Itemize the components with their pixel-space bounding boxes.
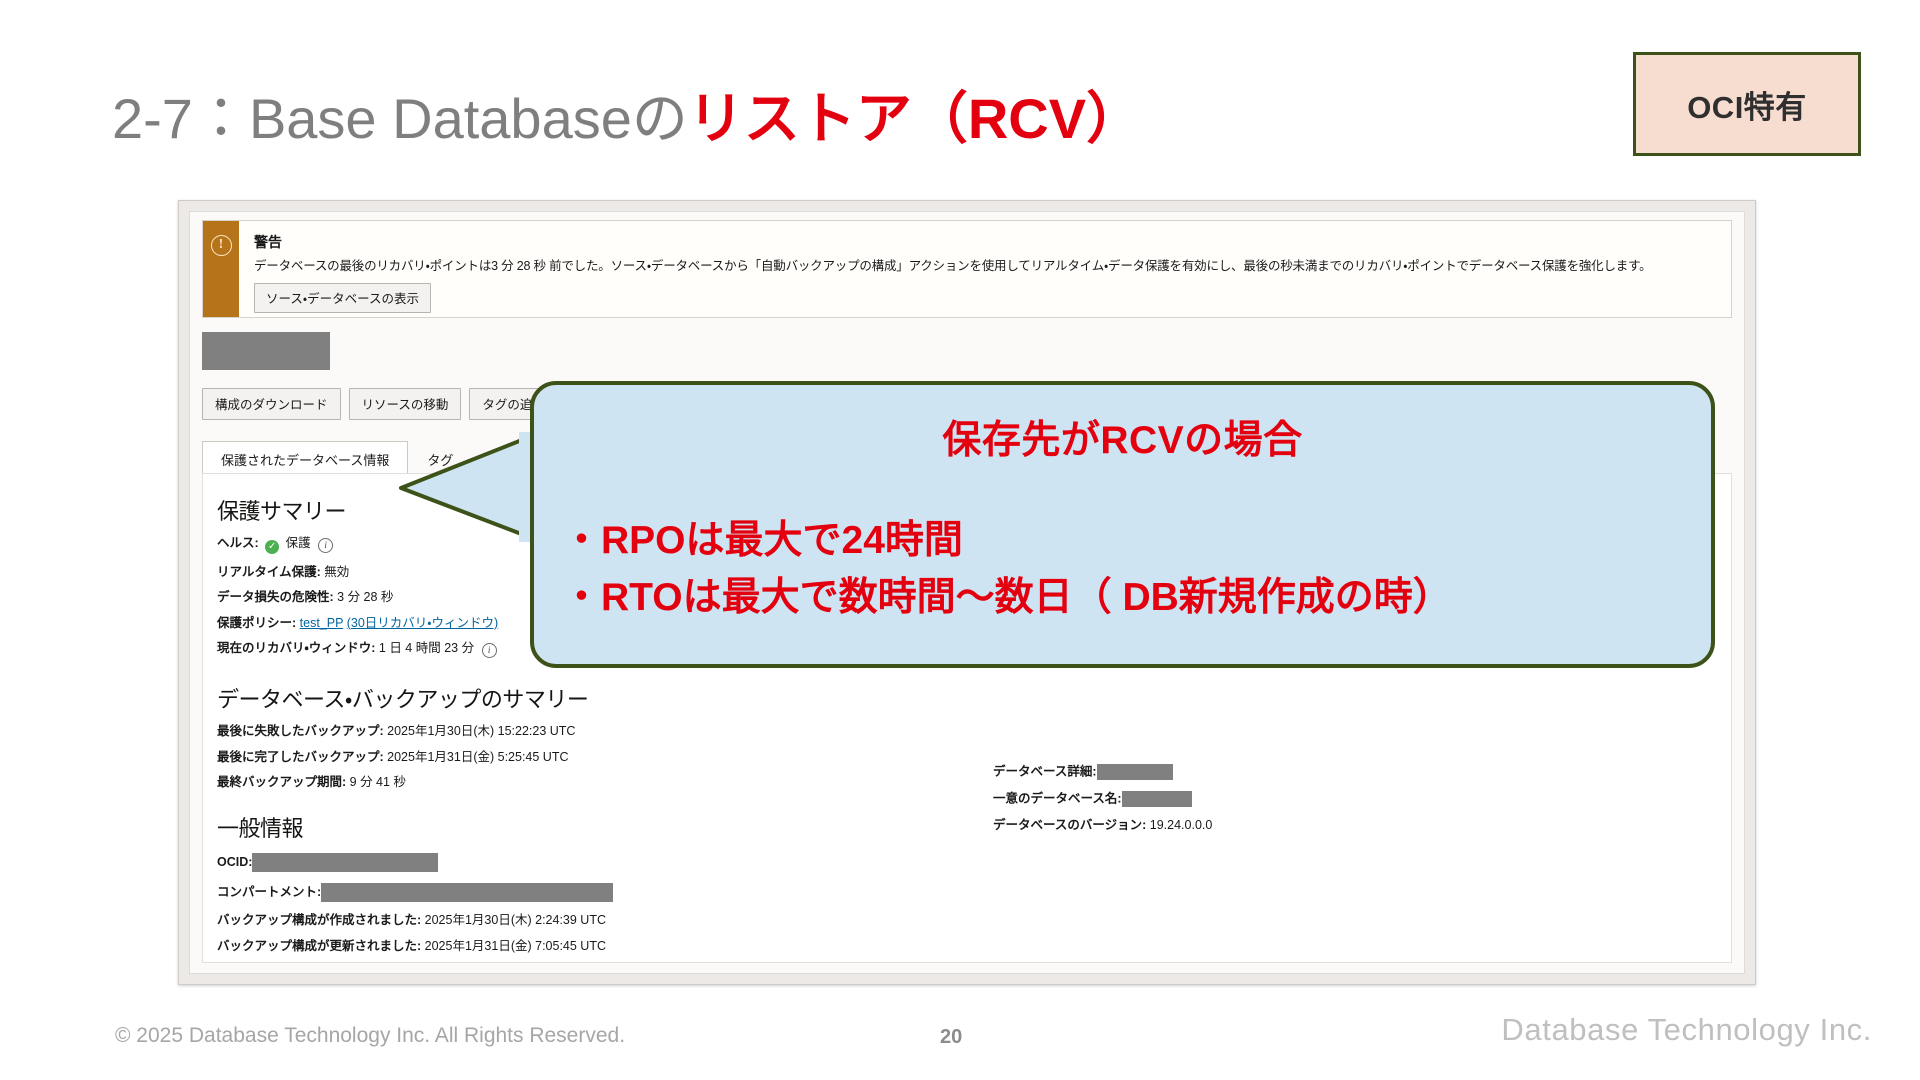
- last-failed-backup-label: 最後に失敗したバックアップ:: [217, 724, 384, 738]
- last-failed-backup-row: 最後に失敗したバックアップ: 2025年1月30日(木) 15:22:23 UT…: [217, 724, 957, 738]
- last-backup-duration-label: 最終バックアップ期間:: [217, 775, 346, 789]
- protection-policy-window[interactable]: (30日リカバリ・ウィンドウ): [347, 616, 498, 630]
- backup-config-created-label: バックアップ構成が作成されました:: [217, 913, 421, 927]
- compartment-label: コンパートメント:: [217, 885, 321, 899]
- info-icon[interactable]: i: [482, 643, 497, 658]
- download-configuration-button[interactable]: 構成のダウンロード: [202, 388, 341, 420]
- ocid-value-redaction: [252, 853, 438, 872]
- last-completed-backup-row: 最後に完了したバックアップ: 2025年1月31日(金) 5:25:45 UTC: [217, 750, 957, 764]
- health-value: 保護: [286, 536, 311, 550]
- database-version-value: 19.24.0.0.0: [1150, 818, 1213, 832]
- detail-right-column: データベース詳細: 一意のデータベース名: データベースのバージョン: 19.2…: [993, 764, 1553, 843]
- callout-title: 保存先がRCVの場合: [534, 409, 1711, 465]
- data-loss-exposure-value: 3 分 28 秒: [337, 590, 393, 604]
- last-failed-backup-value: 2025年1月30日(木) 15:22:23 UTC: [387, 724, 575, 738]
- general-information-heading: 一般情報: [217, 811, 957, 843]
- page-title-prefix: 2-7：Base Databaseの: [112, 87, 688, 150]
- compartment-value-redaction: [321, 883, 613, 902]
- backup-config-updated-value: 2025年1月31日(金) 7:05:45 UTC: [425, 939, 606, 953]
- footer-page-number: 20: [940, 1026, 962, 1049]
- backup-summary-heading: データベース・バックアップのサマリー: [217, 682, 957, 714]
- protection-policy-link[interactable]: test_PP: [300, 616, 344, 630]
- database-detail-row: データベース詳細:: [993, 764, 1553, 780]
- resource-action-toolbar: 構成のダウンロード リソースの移動 タグの追加: [202, 388, 558, 420]
- unique-database-name-row: 一意のデータベース名:: [993, 791, 1553, 807]
- data-loss-exposure-label: データ損失の危険性:: [217, 590, 334, 604]
- oci-specific-badge-label: OCI特有: [1687, 82, 1807, 127]
- backup-config-created-row: バックアップ構成が作成されました: 2025年1月30日(木) 2:24:39 …: [217, 913, 957, 927]
- last-backup-duration-value: 9 分 41 秒: [350, 775, 406, 789]
- view-source-database-button[interactable]: ソース・データベースの表示: [254, 283, 431, 313]
- callout-bullet-list: ・RPOは最大で24時間 ・RTOは最大で数時間～数日（ DB新規作成の時）: [562, 513, 1691, 626]
- last-backup-duration-row: 最終バックアップ期間: 9 分 41 秒: [217, 775, 957, 789]
- oci-specific-badge: OCI特有: [1633, 52, 1861, 156]
- backup-config-created-value: 2025年1月30日(木) 2:24:39 UTC: [425, 913, 606, 927]
- realtime-protection-label: リアルタイム保護:: [217, 565, 321, 579]
- current-recovery-window-value: 1 日 4 時間 23 分: [379, 641, 474, 655]
- warning-message: データベースの最後のリカバリ・ポイントは3 分 28 秒 前でした。ソース・デー…: [254, 259, 1731, 275]
- warning-banner-stripe: !: [203, 221, 239, 317]
- health-label: ヘルス:: [217, 536, 259, 550]
- current-recovery-window-label: 現在のリカバリ・ウィンドウ:: [217, 641, 375, 655]
- unique-database-name-label: 一意のデータベース名:: [993, 791, 1122, 805]
- footer-brand-logo: Database Technology Inc.: [1501, 1012, 1872, 1048]
- compartment-row: コンパートメント:: [217, 883, 957, 902]
- move-resource-button[interactable]: リソースの移動: [349, 388, 462, 420]
- last-completed-backup-value: 2025年1月31日(金) 5:25:45 UTC: [387, 750, 568, 764]
- database-detail-label: データベース詳細:: [993, 764, 1097, 778]
- page-title-accent: リストア（RCV）: [688, 87, 1142, 150]
- resource-name-redaction: [202, 332, 330, 370]
- warning-title: 警告: [254, 232, 1731, 252]
- protection-policy-label: 保護ポリシー:: [217, 616, 296, 630]
- database-version-label: データベースのバージョン:: [993, 818, 1146, 832]
- database-version-row: データベースのバージョン: 19.24.0.0.0: [993, 818, 1553, 832]
- backup-config-updated-label: バックアップ構成が更新されました:: [217, 939, 421, 953]
- realtime-protection-value: 無効: [324, 565, 349, 579]
- info-icon[interactable]: i: [318, 538, 333, 553]
- callout-balloon: 保存先がRCVの場合 ・RPOは最大で24時間 ・RTOは最大で数時間～数日（ …: [530, 381, 1715, 668]
- footer-copyright: © 2025 Database Technology Inc. All Righ…: [115, 1024, 625, 1048]
- database-detail-redaction: [1097, 764, 1173, 780]
- callout-tail: [399, 432, 539, 542]
- unique-database-name-redaction: [1122, 791, 1192, 807]
- warning-exclamation-icon: !: [211, 235, 232, 256]
- warning-banner-body: 警告 データベースの最後のリカバリ・ポイントは3 分 28 秒 前でした。ソース…: [239, 221, 1731, 317]
- check-circle-icon: ✓: [265, 540, 279, 554]
- callout-bullet-rto: ・RTOは最大で数時間～数日（ DB新規作成の時）: [562, 570, 1691, 627]
- ocid-row: OCID:: [217, 853, 957, 872]
- callout-bullet-rpo: ・RPOは最大で24時間: [562, 513, 1691, 570]
- page-title: 2-7：Base Databaseのリストア（RCV）: [112, 88, 1142, 150]
- warning-banner: ! 警告 データベースの最後のリカバリ・ポイントは3 分 28 秒 前でした。ソ…: [202, 220, 1732, 318]
- ocid-label: OCID:: [217, 855, 252, 869]
- backup-config-updated-row: バックアップ構成が更新されました: 2025年1月31日(金) 7:05:45 …: [217, 939, 957, 953]
- last-completed-backup-label: 最後に完了したバックアップ:: [217, 750, 384, 764]
